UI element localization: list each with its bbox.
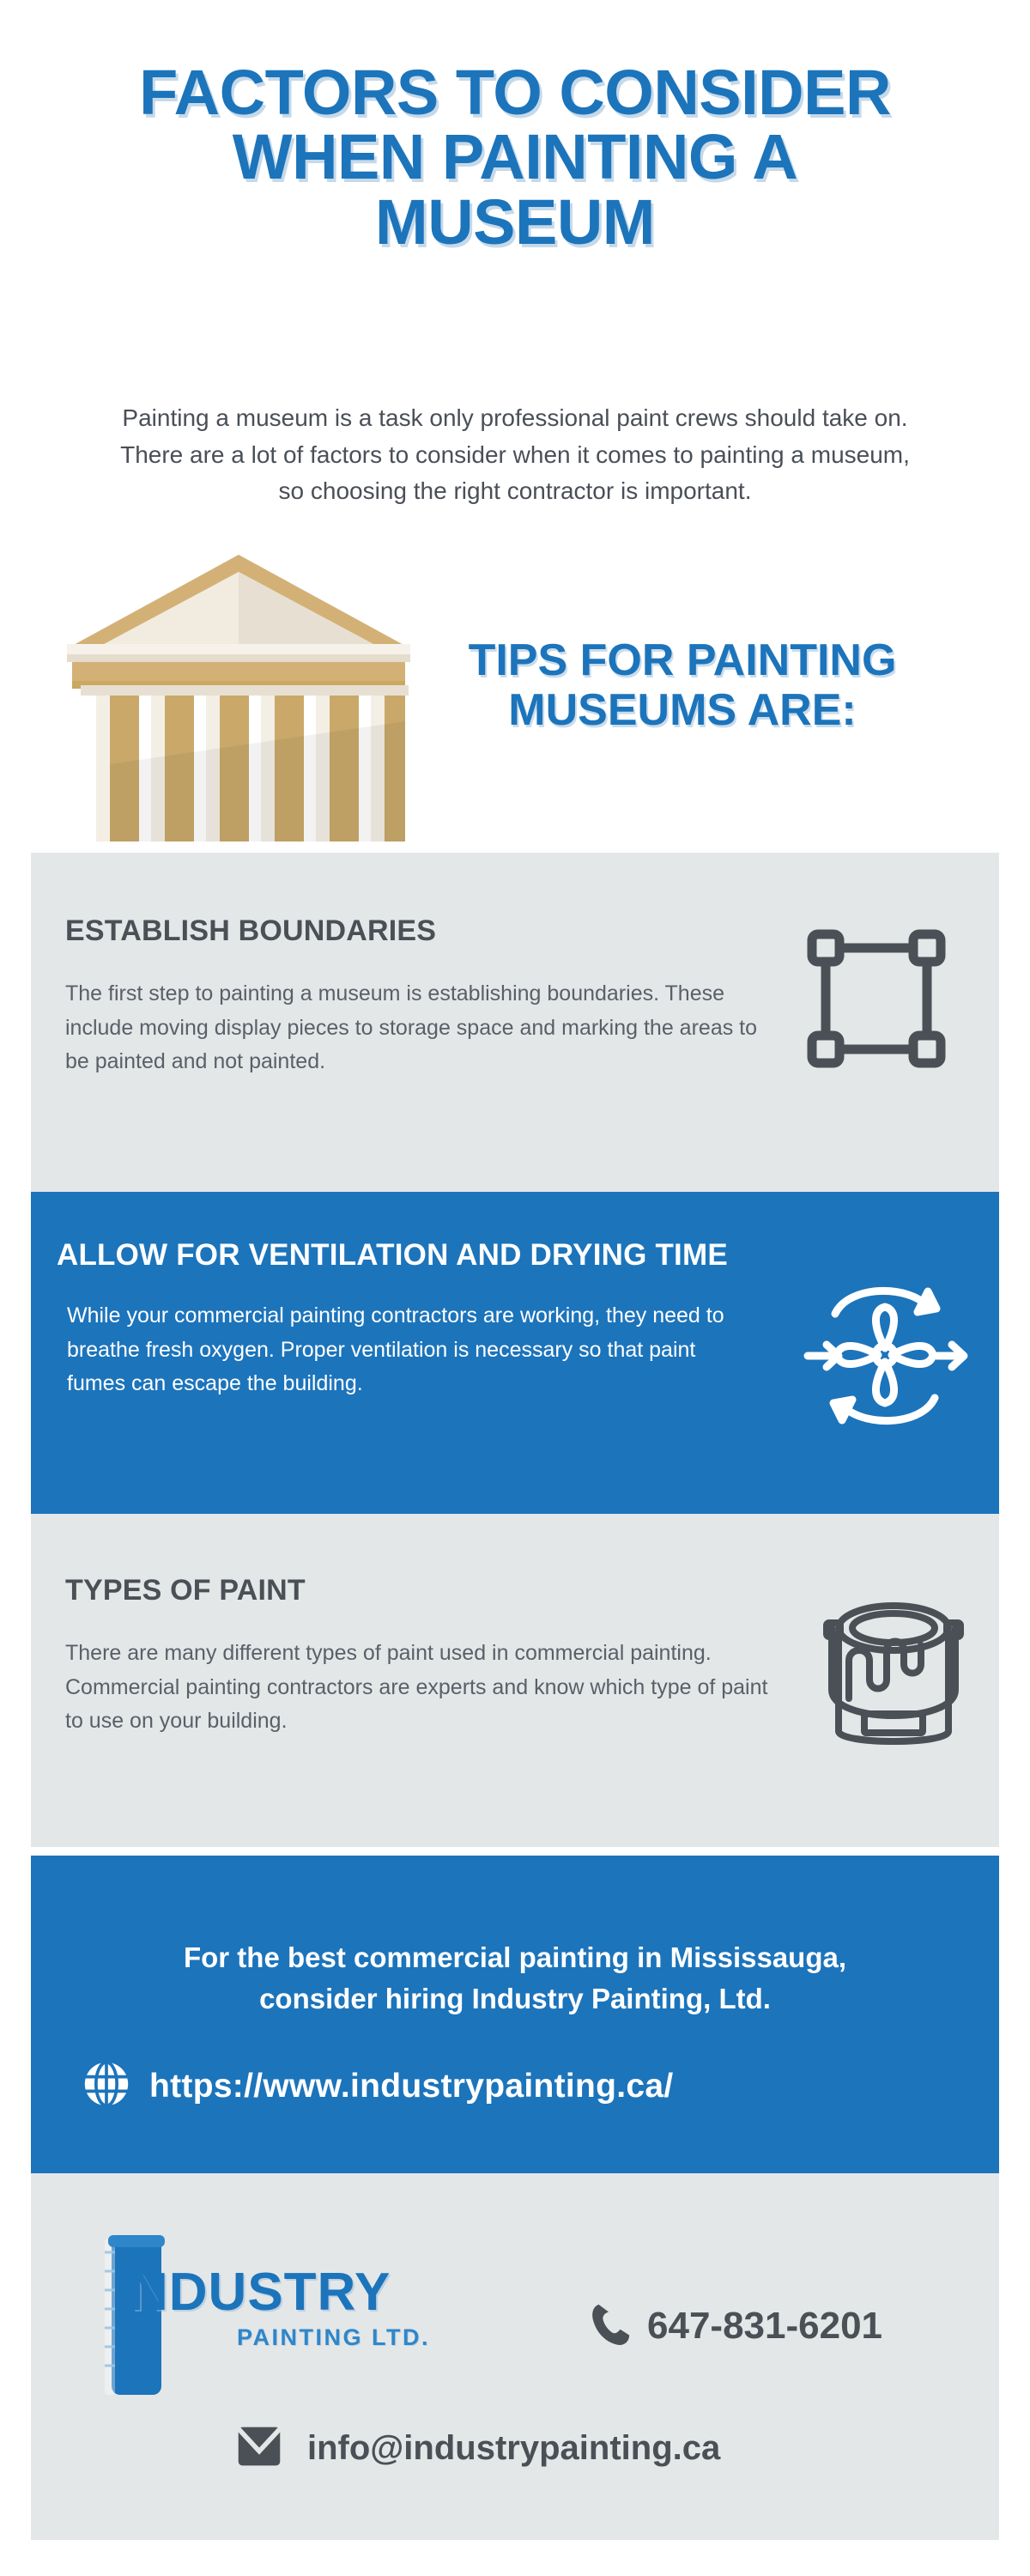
phone-number[interactable]: 647-831-6201	[647, 2305, 882, 2348]
selection-boundary-icon	[803, 926, 949, 1076]
envelope-icon	[233, 2422, 285, 2475]
cta-section: For the best commercial painting in Miss…	[31, 1856, 999, 2173]
card-body: There are many different types of paint …	[65, 1637, 769, 1739]
ventilation-fan-icon	[799, 1269, 971, 1445]
globe-icon	[82, 2060, 130, 2112]
logo-wordmark: NDUSTRY	[130, 2262, 391, 2323]
logo-subtitle: PAINTING LTD.	[237, 2324, 430, 2351]
paint-can-icon	[808, 1578, 979, 1771]
footer-section: NDUSTRY PAINTING LTD. 647-831-6201 info@…	[31, 2173, 999, 2540]
cta-message: For the best commercial painting in Miss…	[72, 1937, 958, 2020]
tips-line-1: TIPS FOR PAINTING	[369, 635, 996, 685]
title-line-3: MUSEUM	[51, 190, 978, 254]
card-heading: ALLOW FOR VENTILATION AND DRYING TIME	[57, 1238, 728, 1273]
phone-icon	[589, 2300, 632, 2351]
phone-contact[interactable]: 647-831-6201	[589, 2300, 882, 2351]
cta-line-2: consider hiring Industry Painting, Ltd.	[72, 1978, 958, 2020]
card-establish-boundaries: ESTABLISH BOUNDARIES The first step to p…	[31, 853, 999, 1192]
infographic-page: FACTORS TO CONSIDER WHEN PAINTING A MUSE…	[0, 0, 1030, 2576]
card-types-of-paint: TYPES OF PAINT There are many different …	[31, 1514, 999, 1847]
card-heading: TYPES OF PAINT	[65, 1574, 306, 1607]
card-heading: ESTABLISH BOUNDARIES	[65, 914, 436, 948]
title-line-2: WHEN PAINTING A	[51, 125, 978, 189]
cta-line-1: For the best commercial painting in Miss…	[72, 1937, 958, 1978]
website-link[interactable]: https://www.industrypainting.ca/	[82, 2060, 958, 2112]
card-body: The first step to painting a museum is e…	[65, 977, 778, 1079]
page-title: FACTORS TO CONSIDER WHEN PAINTING A MUSE…	[51, 60, 978, 254]
intro-paragraph: Painting a museum is a task only profess…	[112, 400, 918, 510]
tips-heading: TIPS FOR PAINTING MUSEUMS ARE:	[369, 635, 996, 735]
greek-temple-museum-icon	[58, 550, 419, 841]
tips-line-2: MUSEUMS ARE:	[369, 685, 996, 735]
title-line-1: FACTORS TO CONSIDER	[51, 60, 978, 125]
website-url[interactable]: https://www.industrypainting.ca/	[149, 2068, 674, 2105]
email-contact[interactable]: info@industrypainting.ca	[233, 2422, 720, 2475]
card-body: While your commercial painting contracto…	[67, 1299, 754, 1401]
email-address[interactable]: info@industrypainting.ca	[307, 2429, 720, 2468]
card-allow-ventilation: ALLOW FOR VENTILATION AND DRYING TIME Wh…	[31, 1192, 999, 1514]
